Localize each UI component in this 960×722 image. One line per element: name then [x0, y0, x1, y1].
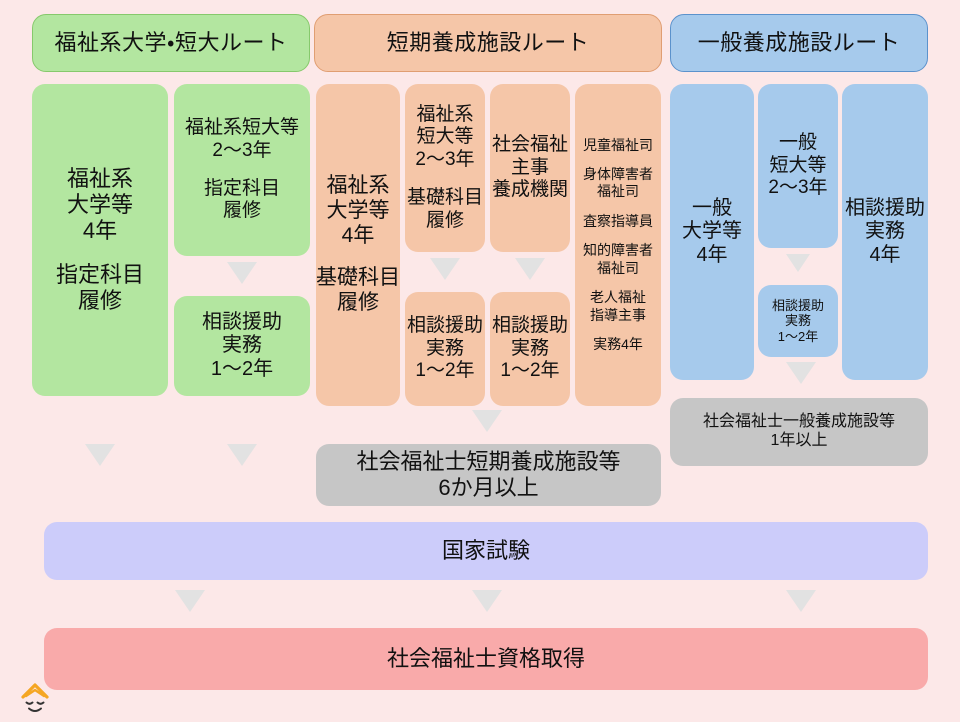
step-line: 基礎科目	[316, 266, 400, 291]
step-line: 4年	[869, 244, 900, 268]
route-header-general-training: 一般養成施設ルート	[670, 14, 928, 72]
step-line: 1〜2年	[415, 360, 474, 382]
facility-line: 6か月以上	[438, 475, 538, 501]
step-line: 福祉系	[67, 166, 133, 192]
step-line: 実務	[865, 220, 905, 244]
flow-arrow-down	[85, 444, 115, 466]
route-header-short-term-training: 短期養成施設ルート	[314, 14, 662, 72]
step-welfare-univ-4yr: 福祉系 大学等 4年 指定科目 履修	[32, 84, 168, 396]
step-line: 大学等	[327, 199, 390, 224]
facility-line: 社会福祉士短期養成施設等	[356, 449, 620, 475]
step-line: 4年	[83, 218, 117, 244]
step-line: 指導主事	[590, 307, 646, 325]
step-line: 福祉系短大等	[185, 117, 299, 139]
route-header-label: 福祉系大学・短大ルート	[55, 30, 288, 56]
step-line: 基礎科目	[407, 187, 483, 209]
step-line: 社会福祉	[492, 134, 568, 156]
step-line: 指定科目	[56, 262, 144, 288]
step-line: 実務	[785, 313, 811, 328]
flow-arrow-down	[472, 590, 502, 612]
step-line: 相談援助	[202, 311, 282, 335]
step-line: 養成機関	[492, 179, 568, 201]
step-line: 一般	[779, 132, 817, 154]
step-line: 知的障害者	[583, 242, 653, 260]
flow-arrow-down	[515, 258, 545, 280]
step-line: 主事	[511, 157, 549, 179]
step-line: 4年	[342, 224, 375, 249]
step-general-junior-college: 一般 短大等 2〜3年	[758, 84, 838, 248]
step-line: 4年	[696, 244, 727, 268]
step-line: 一般	[692, 197, 732, 221]
step-line: 短大等	[416, 126, 473, 148]
route-header-welfare-university: 福祉系大学・短大ルート	[32, 14, 310, 72]
flow-arrow-down	[227, 444, 257, 466]
route-header-label: 一般養成施設ルート	[698, 30, 901, 56]
step-line: 福祉司	[597, 183, 639, 201]
flow-arrow-down	[786, 254, 810, 272]
step-consultation-practice-1-2yr-d: 相談援助 実務 1〜2年	[758, 285, 838, 357]
national-exam-box: 国家試験	[44, 522, 928, 580]
step-line: 福祉司	[597, 260, 639, 278]
step-line: 1〜2年	[778, 329, 818, 344]
step-welfare-univ-4yr-basic: 福祉系 大学等 4年 基礎科目 履修	[316, 84, 400, 406]
flow-arrow-down	[430, 258, 460, 280]
flow-arrow-down	[227, 262, 257, 284]
facility-short-term: 社会福祉士短期養成施設等 6か月以上	[316, 444, 661, 506]
step-line: 履修	[78, 288, 122, 314]
flow-arrow-down	[786, 590, 816, 612]
step-consultation-practice-1-2yr-b: 相談援助 実務 1〜2年	[405, 292, 485, 406]
step-line: 査察指導員	[583, 213, 653, 231]
qualification-result-box: 社会福祉士資格取得	[44, 628, 928, 690]
step-line: 老人福祉	[590, 289, 646, 307]
step-line: 児童福祉司	[583, 137, 653, 155]
facility-line: 社会福祉士一般養成施設等	[703, 413, 895, 432]
step-designated-occupations: 児童福祉司 身体障害者 福祉司 査察指導員 知的障害者 福祉司 老人福祉 指導主…	[575, 84, 661, 406]
step-welfare-junior-college: 福祉系短大等 2〜3年 指定科目 履修	[174, 84, 310, 256]
diagram-canvas: 福祉系大学・短大ルート 短期養成施設ルート 一般養成施設ルート 福祉系 大学等 …	[0, 0, 960, 720]
mascot-figure-icon	[18, 681, 52, 717]
step-consultation-practice-4yr: 相談援助 実務 4年	[842, 84, 928, 380]
step-line: 福祉系	[327, 174, 390, 199]
step-line: 身体障害者	[583, 166, 653, 184]
step-general-univ-4yr: 一般 大学等 4年	[670, 84, 754, 380]
step-line: 相談援助	[492, 315, 568, 337]
step-line: 実務	[511, 338, 549, 360]
step-consultation-practice-1-2yr-c: 相談援助 実務 1〜2年	[490, 292, 570, 406]
step-line: 大学等	[682, 220, 742, 244]
step-line: 短大等	[769, 155, 826, 177]
step-line: 相談援助	[772, 298, 824, 313]
flow-arrow-down	[786, 362, 816, 384]
step-line: 履修	[223, 200, 261, 222]
step-line: 実務	[426, 338, 464, 360]
step-line: 大学等	[67, 192, 133, 218]
step-line: 実務	[222, 334, 262, 358]
step-line: 履修	[337, 291, 379, 316]
step-consultation-practice-1-2yr-a: 相談援助 実務 1〜2年	[174, 296, 310, 396]
step-social-welfare-officer-institute: 社会福祉 主事 養成機関	[490, 84, 570, 252]
step-line: 2〜3年	[768, 177, 827, 199]
qualification-result-label: 社会福祉士資格取得	[387, 646, 585, 672]
step-line: 相談援助	[407, 315, 483, 337]
step-welfare-jc-basic: 福祉系 短大等 2〜3年 基礎科目 履修	[405, 84, 485, 252]
facility-general: 社会福祉士一般養成施設等 1年以上	[670, 398, 928, 466]
route-header-label: 短期養成施設ルート	[387, 30, 590, 56]
step-line: 相談援助	[845, 197, 925, 221]
step-line: 実務4年	[593, 336, 643, 354]
step-line: 2〜3年	[415, 149, 474, 171]
step-line: 2〜3年	[212, 140, 271, 162]
flow-arrow-down	[472, 410, 502, 432]
national-exam-label: 国家試験	[442, 538, 530, 564]
flow-arrow-down	[175, 590, 205, 612]
step-line: 1〜2年	[500, 360, 559, 382]
step-line: 履修	[426, 210, 464, 232]
step-line: 福祉系	[416, 104, 473, 126]
facility-line: 1年以上	[771, 432, 828, 451]
step-line: 1〜2年	[211, 358, 273, 382]
step-line: 指定科目	[204, 178, 280, 200]
